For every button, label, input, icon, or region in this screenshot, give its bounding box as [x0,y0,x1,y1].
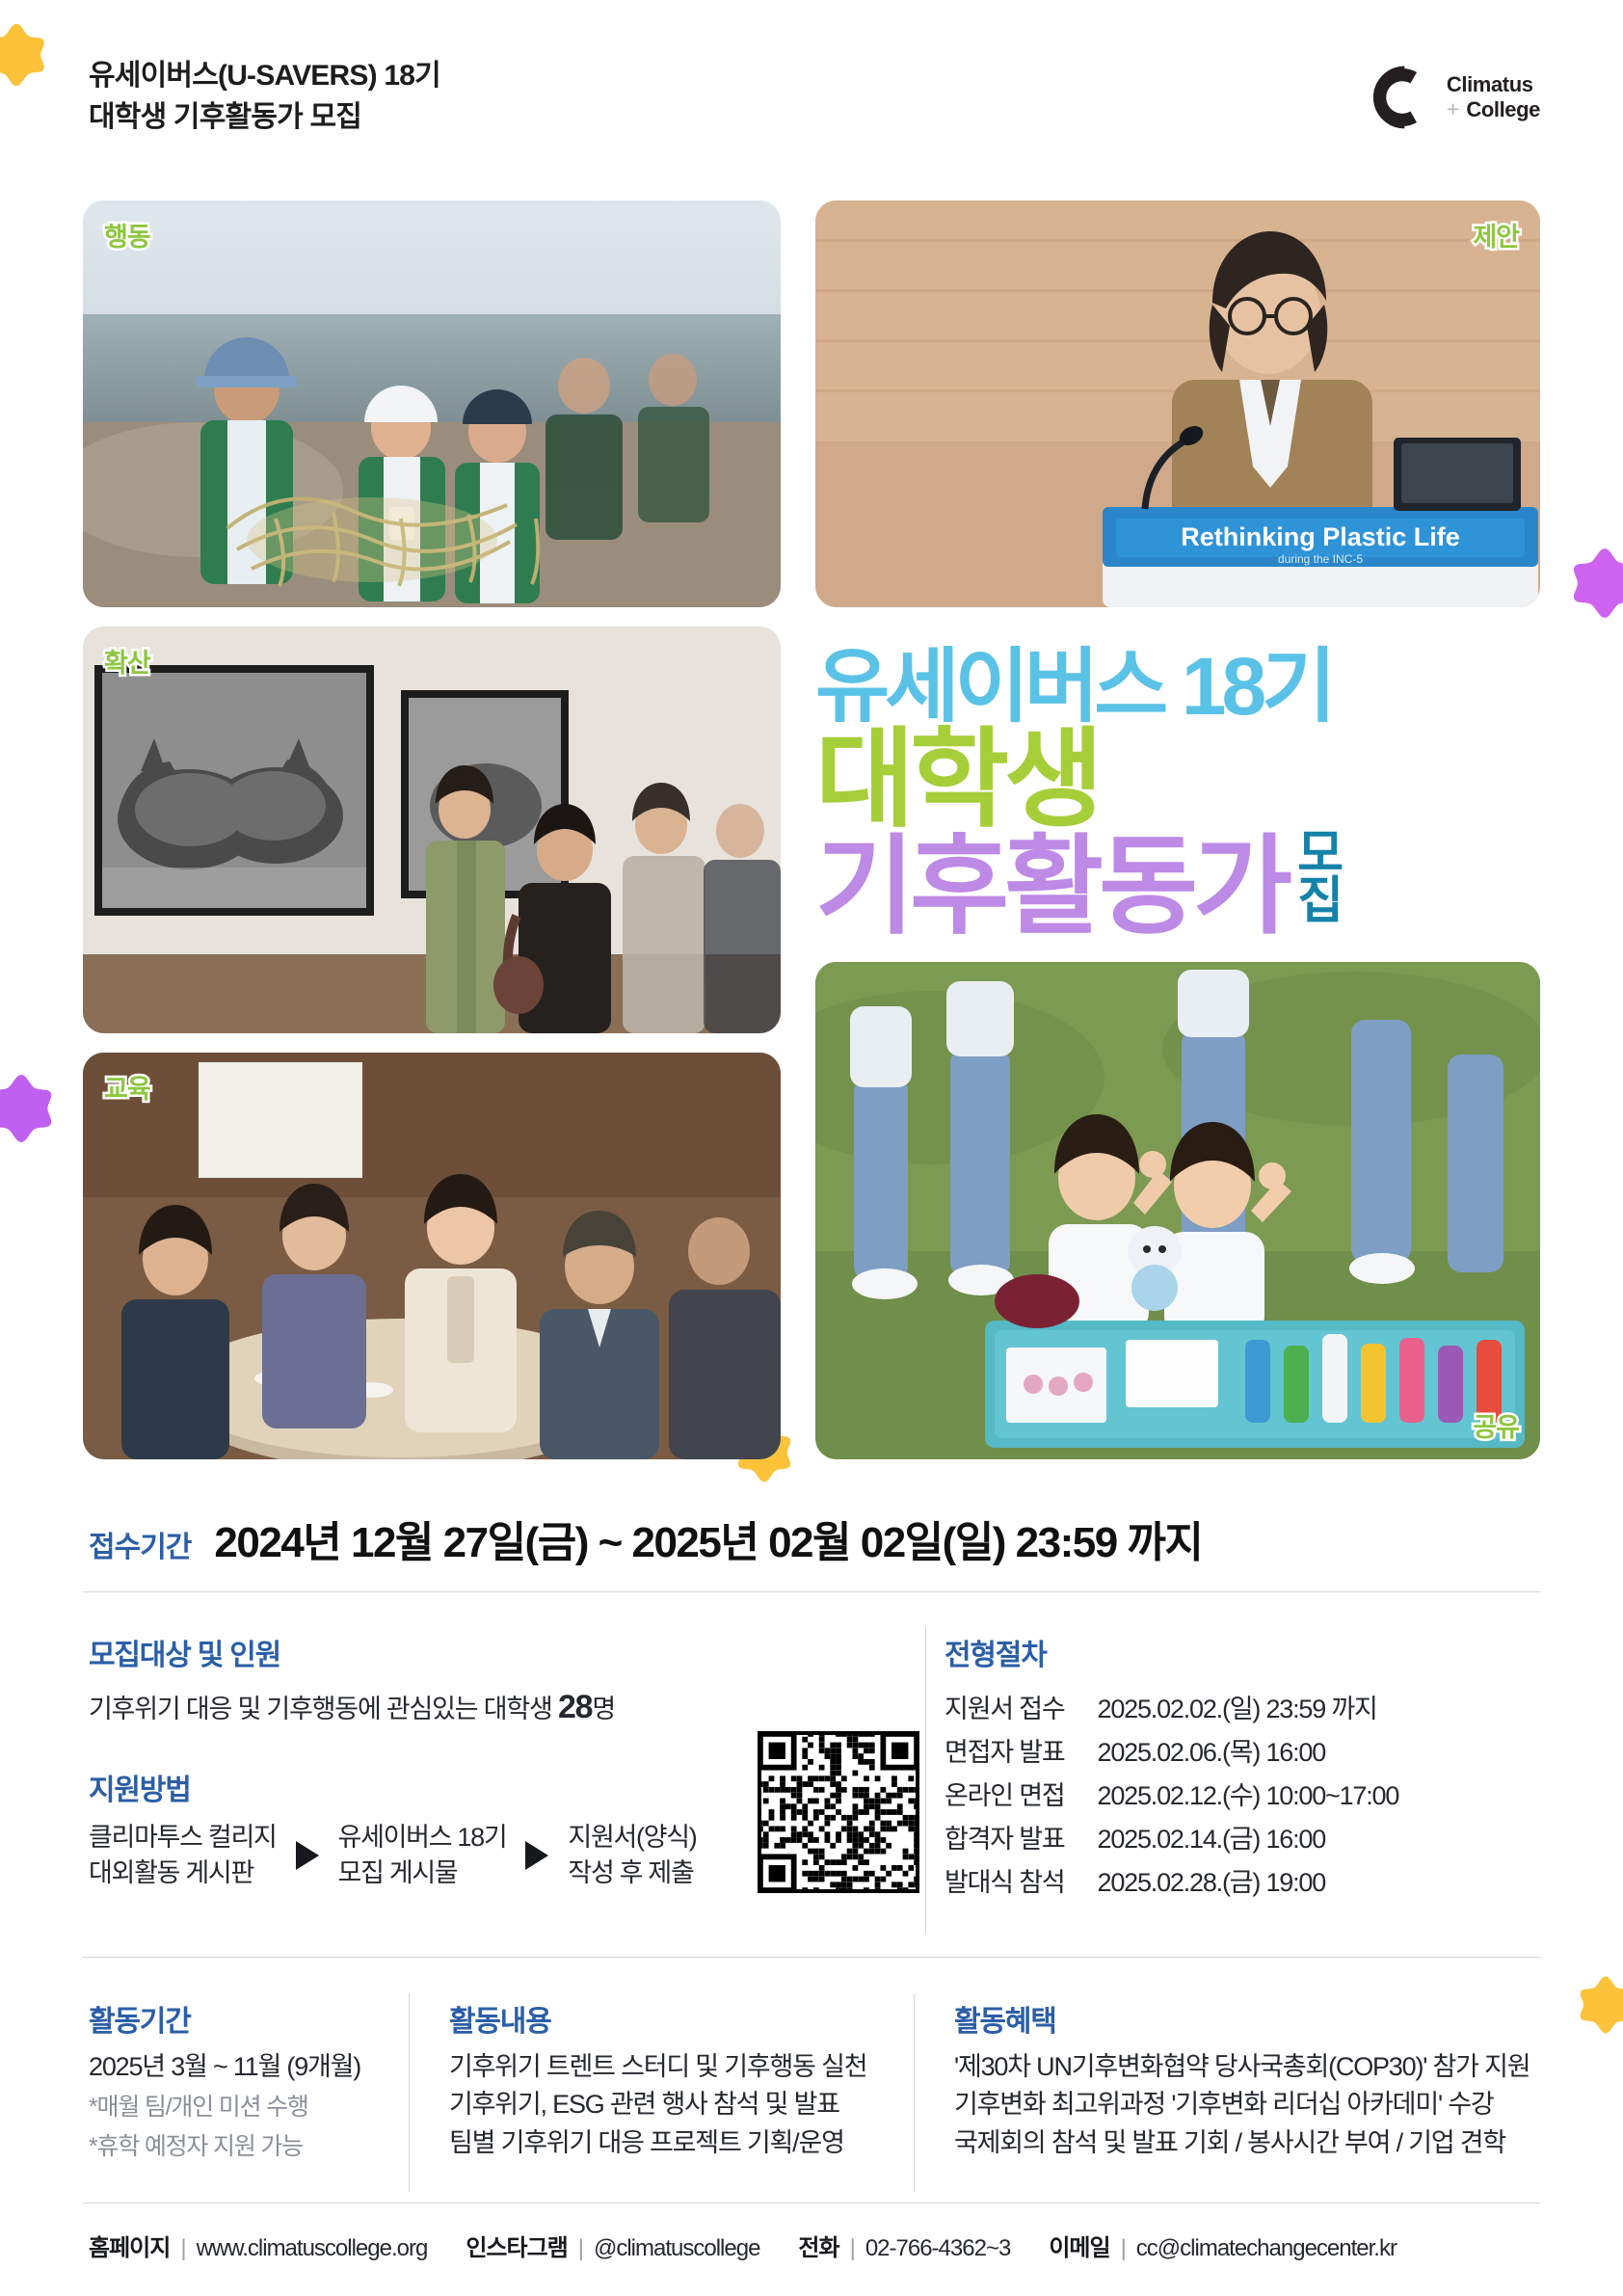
activity-benefit-title: 활동혜택 [954,1997,1530,2040]
triangle-right-icon [296,1841,319,1870]
logo-text-line1: Climatus [1447,72,1540,97]
period-value: 2024년 12월 27일(금) ~ 2025년 02월 02일(일) 23:5… [214,1508,1202,1569]
activity-benefit-line-2: 기후변화 최고위과정 '기후변화 리더십 아카데미' 수강 [954,2087,1530,2122]
activity-benefit-line-3: 국제회의 참석 및 발표 기회 / 봉사시간 부여 / 기업 견학 [954,2125,1530,2161]
section-apply-method: 지원방법 클리마투스 컬리지대외활동 게시판 유세이버스 18기모집 게시물 지… [89,1766,697,1892]
poster-root: 유세이버스(U-SAVERS) 18기 대학생 기후활동가 모집 Climatu… [0,0,1623,2296]
star-yellow-right [1575,1970,1623,2040]
headline-tag-char1: 모 [1297,831,1342,878]
svg-text:Rethinking Plastic Life: Rethinking Plastic Life [1181,522,1460,551]
target-text: 기후위기 대응 및 기후행동에 관심있는 대학생 28명 [89,1685,615,1730]
photo-proposal: Rethinking Plastic Life during the INC-5… [815,200,1540,607]
footer-value-instagram[interactable]: @climatuscollege [594,2235,759,2262]
photo-badge-action: 행동 [104,216,150,254]
process-step-label: 지원서 접수 [945,1685,1098,1728]
process-step-date: 2025.02.06.(목) 16:00 [1098,1728,1399,1772]
footer-value-homepage[interactable]: www.climatuscollege.org [197,2235,428,2262]
photo-badge-spread: 확산 [104,642,150,680]
activity-content-title: 활동내용 [449,1997,866,2040]
section-activity-content: 활동내용 기후위기 트렌트 스터디 및 기후행동 실천 기후위기, ESG 관련… [449,1997,866,2161]
target-count: 28 [558,1689,592,1725]
activity-content-line-3: 팀별 기후위기 대응 프로젝트 기획/운영 [449,2125,866,2161]
headline-line2: 대학생 [815,728,1548,832]
header-title-line1: 유세이버스(U-SAVERS) 18기 [89,56,440,97]
footer-key-phone: 전화 [798,2229,838,2262]
headline-line1: 유세이버스 18기 [815,648,1548,726]
activity-period-value: 2025년 3월 ~ 11월 (9개월) [89,2049,360,2085]
apply-step-3: 지원서(양식)작성 후 제출 [568,1820,696,1892]
process-step-date: 2025.02.02.(일) 23:59 까지 [1098,1685,1399,1728]
footer-contacts: 홈페이지 | www.climatuscollege.org 인스타그램 | @… [89,2229,1397,2262]
footer-key-email: 이메일 [1049,2229,1109,2262]
headline-line3: 기후활동가 [815,835,1288,939]
process-step-date: 2025.02.12.(수) 10:00~17:00 [1098,1772,1399,1815]
photo-badge-share: 공유 [1473,1406,1519,1444]
footer-item-homepage: 홈페이지 | www.climatuscollege.org [89,2229,427,2262]
footer-item-email: 이메일 | cc@climatechangecenter.kr [1049,2229,1397,2262]
target-text-after: 명 [592,1695,615,1723]
climatus-college-logo: Climatus + College [1358,60,1540,135]
footer-separator: | [850,2235,855,2262]
photo-share: 공유 [815,962,1540,1459]
target-text-before: 기후위기 대응 및 기후행동에 관심있는 대학생 [89,1695,558,1723]
process-step-label: 온라인 면접 [945,1772,1098,1815]
footer-item-phone: 전화 | 02-766-4362~3 [798,2229,1010,2262]
photo-education: 교육 [83,1053,781,1459]
header-title-line2: 대학생 기후활동가 모집 [89,97,440,139]
activity-content-line-1: 기후위기 트렌트 스터디 및 기후행동 실천 [449,2049,866,2085]
star-purple-rightmid [1567,542,1623,625]
photo-badge-education: 교육 [104,1068,150,1106]
process-row: 온라인 면접2025.02.12.(수) 10:00~17:00 [945,1772,1398,1815]
logo-plus-icon: + [1447,98,1459,120]
application-period: 접수기간 2024년 12월 27일(금) ~ 2025년 02월 02일(일)… [89,1508,1202,1569]
logo-text-line2: College [1466,97,1540,122]
main-headline: 유세이버스 18기 대학생 기후활동가 모 집 [815,648,1548,939]
footer-key-homepage: 홈페이지 [89,2229,170,2262]
section-process: 전형절차 지원서 접수2025.02.02.(일) 23:59 까지면접자 발표… [945,1631,1398,1902]
activity-content-line-2: 기후위기, ESG 관련 행사 참석 및 발표 [449,2087,866,2122]
apply-step-2: 유세이버스 18기모집 게시물 [338,1820,507,1892]
footer-separator: | [1121,2235,1126,2262]
footer-separator: | [578,2235,583,2262]
period-label: 접수기간 [89,1523,191,1565]
star-yellow-topleft [0,17,50,93]
process-step-label: 면접자 발표 [945,1728,1098,1772]
svg-text:during the INC-5: during the INC-5 [1278,552,1363,566]
divider-footer [83,2203,1540,2203]
divider-middle [83,1957,1540,1958]
process-step-label: 합격자 발표 [945,1815,1098,1858]
footer-key-instagram: 인스타그램 [466,2229,567,2262]
activity-period-note-1: *매월 팀/개인 미션 수행 [89,2091,360,2124]
apply-step-1: 클리마투스 컬리지대외활동 게시판 [89,1820,277,1892]
photo-badge-proposal: 제안 [1473,216,1519,254]
qr-code-icon[interactable] [758,1731,919,1893]
process-row: 지원서 접수2025.02.02.(일) 23:59 까지 [945,1685,1398,1728]
process-row: 발대식 참석2025.02.28.(금) 19:00 [945,1858,1398,1902]
process-step-date: 2025.02.28.(금) 19:00 [1098,1858,1399,1902]
activity-benefit-line-1: '제30차 UN기후변화협약 당사국총회(COP30)' 참가 지원 [954,2049,1530,2085]
photo-spread: 확산 [83,627,781,1033]
process-row: 면접자 발표2025.02.06.(목) 16:00 [945,1728,1398,1772]
process-title: 전형절차 [945,1631,1398,1673]
divider-vertical-2 [409,1993,410,2192]
footer-item-instagram: 인스타그램 | @climatuscollege [466,2229,759,2262]
divider-top [83,1591,1540,1592]
section-activity-benefit: 활동혜택 '제30차 UN기후변화협약 당사국총회(COP30)' 참가 지원 … [954,1997,1530,2161]
process-step-label: 발대식 참석 [945,1858,1098,1902]
star-purple-leftmid [0,1068,58,1149]
headline-vertical-tag: 모 집 [1297,831,1342,925]
apply-title: 지원방법 [89,1766,697,1808]
triangle-right-icon [525,1841,548,1870]
process-table: 지원서 접수2025.02.02.(일) 23:59 까지면접자 발표2025.… [945,1685,1398,1902]
section-activity-period: 활동기간 2025년 3월 ~ 11월 (9개월) *매월 팀/개인 미션 수행… [89,1997,360,2164]
footer-value-email[interactable]: cc@climatechangecenter.kr [1136,2235,1397,2262]
divider-vertical-1 [925,1627,926,1934]
logo-c-mark-icon [1358,60,1433,135]
apply-flow: 클리마투스 컬리지대외활동 게시판 유세이버스 18기모집 게시물 지원서(양식… [89,1820,697,1892]
section-target: 모집대상 및 인원 기후위기 대응 및 기후행동에 관심있는 대학생 28명 [89,1631,615,1730]
photo-action: 행동 [83,200,781,607]
target-title: 모집대상 및 인원 [89,1631,615,1673]
poster-header: 유세이버스(U-SAVERS) 18기 대학생 기후활동가 모집 [89,56,440,138]
footer-separator: | [180,2235,185,2262]
activity-period-note-2: *휴학 예정자 지원 가능 [89,2130,360,2164]
footer-value-phone[interactable]: 02-766-4362~3 [865,2235,1010,2262]
headline-tag-char2: 집 [1297,878,1342,925]
activity-period-title: 활동기간 [89,1997,360,2040]
process-row: 합격자 발표2025.02.14.(금) 16:00 [945,1815,1398,1858]
process-step-date: 2025.02.14.(금) 16:00 [1098,1815,1399,1858]
divider-vertical-3 [914,1993,915,2192]
